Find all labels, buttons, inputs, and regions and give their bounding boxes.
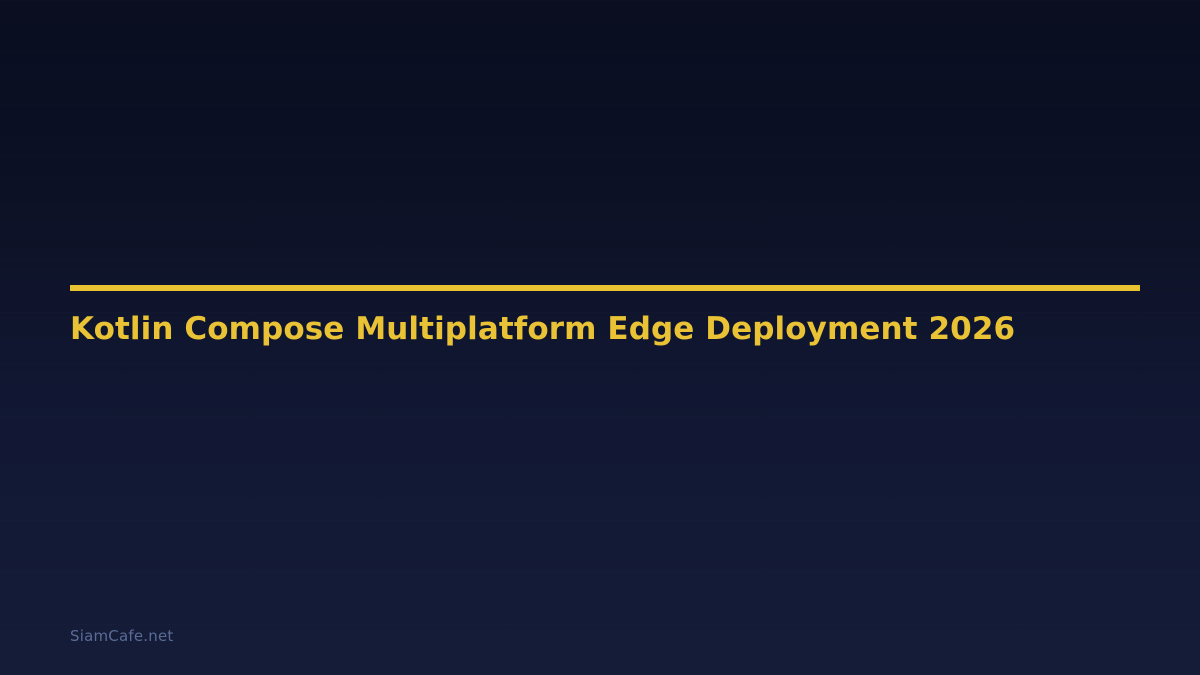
footer-brand: SiamCafe.net	[70, 629, 173, 644]
title-block: Kotlin Compose Multiplatform Edge Deploy…	[70, 285, 1140, 348]
presentation-slide: Kotlin Compose Multiplatform Edge Deploy…	[0, 0, 1200, 675]
slide-title: Kotlin Compose Multiplatform Edge Deploy…	[70, 291, 1140, 348]
